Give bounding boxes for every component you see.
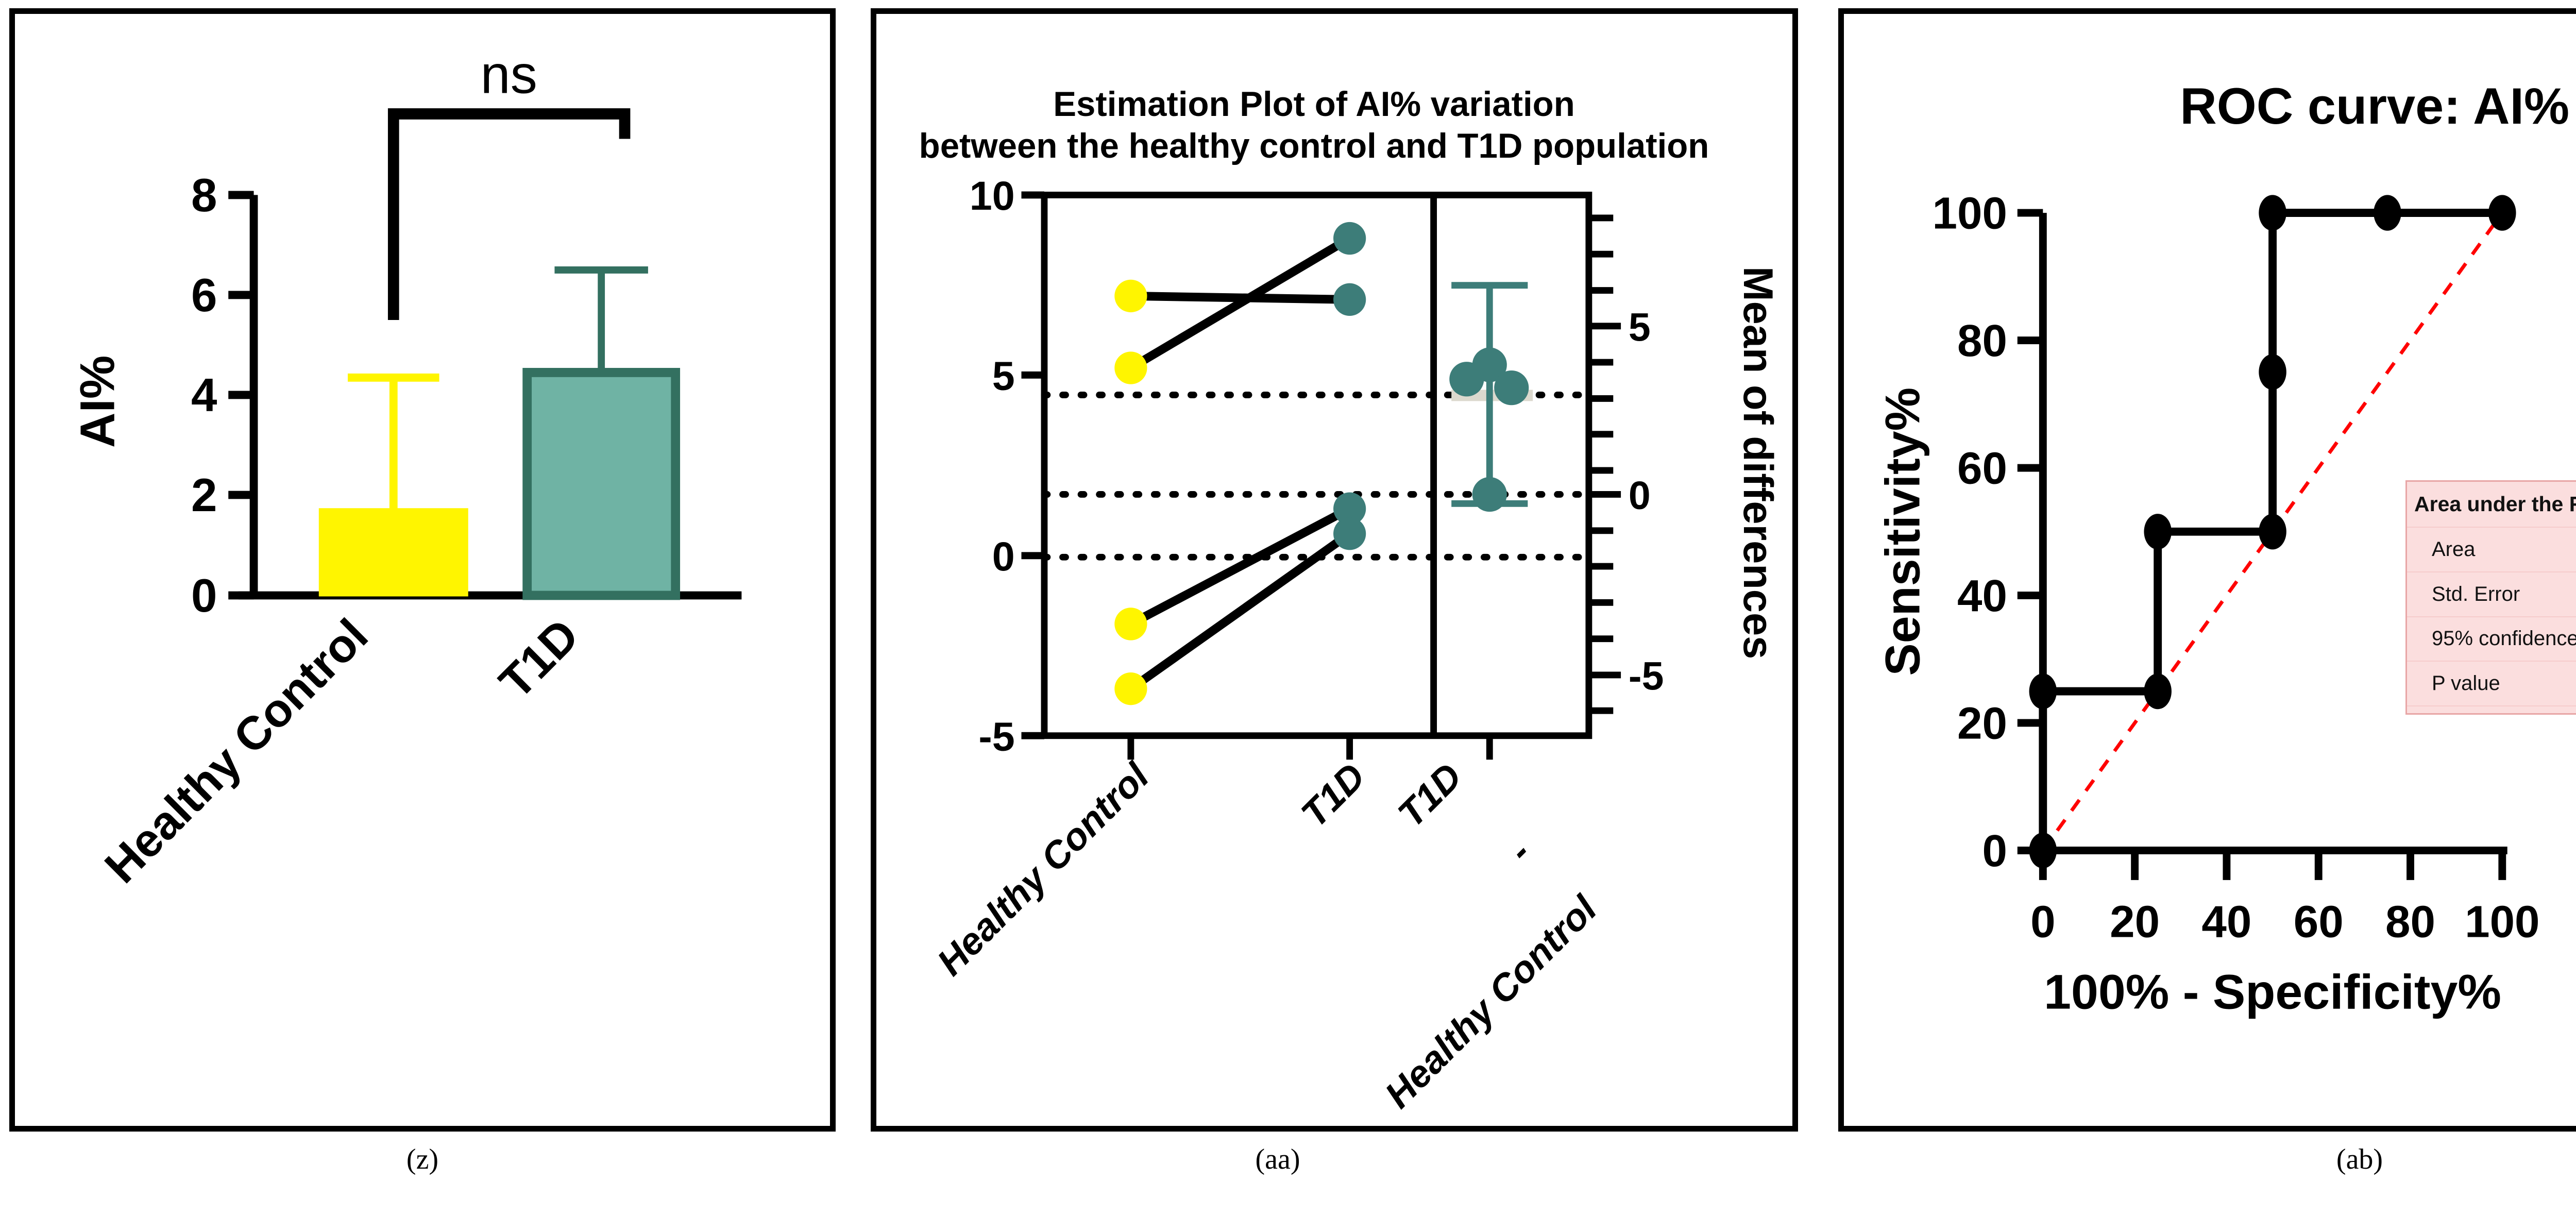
right-y-axis-title: Mean of differences [1735, 266, 1781, 659]
table-spacer-left [2407, 706, 2576, 713]
marker-diff-4 [1494, 370, 1529, 405]
significance-label: ns [480, 44, 537, 105]
y-tick-label-100: 100 [1933, 189, 2007, 239]
marker-t1d-2 [1333, 222, 1366, 255]
left-y-tick-labels: -5 0 5 10 [970, 173, 1015, 759]
plot-title: ROC curve: AI% [2180, 77, 2569, 134]
table-row-spacer [2407, 706, 2576, 713]
roc-point-50-100 [2259, 195, 2286, 230]
plot-frame [1044, 195, 1589, 735]
x-tick-label-40: 40 [2201, 897, 2251, 947]
y-tick-label-0: 0 [1982, 826, 2007, 876]
table-row-header: Area under the ROC curve [2407, 482, 2576, 527]
significance-bracket [394, 114, 625, 320]
right-y-axis-ticks [1589, 218, 1621, 711]
x-axis-ticks [2043, 850, 2502, 880]
marker-t1d-4 [1333, 517, 1366, 550]
left-y-axis-ticks [1022, 195, 1044, 735]
x-label-left-healthy-control: Healthy Control [929, 754, 1158, 984]
x-axis-title: 100% - Specificity% [2044, 965, 2501, 1019]
roc-point-25-50 [2144, 514, 2171, 549]
x-axis-tick-labels: 0 20 40 60 80 100 [2030, 897, 2539, 947]
x-tick-label-healthy-control: Healthy Control [95, 609, 378, 893]
x-tick-label-20: 20 [2110, 897, 2160, 947]
y-tick-label-2: 2 [191, 469, 217, 521]
y-tick-label-4: 4 [191, 369, 217, 421]
marker-hc-4 [1114, 672, 1147, 705]
right-y-tick-label-5: 5 [1629, 305, 1651, 349]
panel-caption-aa: (aa) [1175, 1143, 1381, 1176]
table-label-std-error: Std. Error [2407, 572, 2576, 617]
x-label-left-t1d: T1D [1293, 755, 1374, 835]
roc-point-50-75 [2259, 354, 2286, 390]
y-axis-title: AI% [70, 356, 125, 448]
roc-stats-table: Area under the ROC curve Area 0.6875 Std… [2405, 480, 2576, 715]
panel-caption-ab: (ab) [2257, 1143, 2463, 1176]
pair-connector-lines [1131, 239, 1350, 689]
left-y-tick-label-10: 10 [970, 173, 1015, 218]
y-tick-label-8: 8 [191, 170, 217, 222]
table-row: P value 0.3865 [2407, 661, 2576, 706]
left-y-tick-label-0: 0 [992, 533, 1015, 579]
estimation-plot-svg: Estimation Plot of AI% variation between… [876, 14, 1792, 1126]
table-header-label: Area under the ROC curve [2407, 482, 2576, 527]
plot-title-line2: between the healthy control and T1D popu… [919, 127, 1709, 165]
x-tick-label-100: 100 [2465, 897, 2539, 947]
left-y-tick-label--5: -5 [978, 713, 1014, 759]
x-tick-label-0: 0 [2030, 897, 2055, 947]
marker-hc-3 [1114, 608, 1147, 640]
reference-lines [1044, 395, 1589, 557]
right-y-tick-labels: 5 0 -5 [1629, 305, 1664, 698]
y-axis-title: Sensitivity% [1876, 387, 1930, 676]
x-axis-ticks [1131, 736, 1489, 760]
bar-healthy-control [320, 509, 467, 595]
table-label-confidence-interval: 95% confidence interval [2407, 617, 2576, 662]
marker-hc-2 [1114, 351, 1147, 384]
table-row: Std. Error 0.2031 [2407, 572, 2576, 617]
multi-panel-figure: 0 2 4 6 8 AI% [0, 0, 2576, 1214]
roc-point-0-25 [2029, 673, 2057, 709]
y-tick-label-80: 80 [1957, 316, 2007, 366]
bar-t1d [527, 373, 675, 596]
y-tick-label-6: 6 [191, 269, 217, 322]
x-tick-label-60: 60 [2294, 897, 2344, 947]
y-axis-tick-labels: 0 20 40 60 80 100 [1933, 189, 2007, 876]
roc-point-100-100 [2488, 195, 2516, 230]
panel-ab-roc-curve: ROC curve: AI% 0 20 40 60 80 100 S [1838, 8, 2576, 1132]
marker-t1d-1 [1333, 283, 1366, 316]
roc-point-75-100 [2374, 195, 2401, 230]
y-tick-label-60: 60 [1957, 444, 2007, 494]
table-label-p-value: P value [2407, 661, 2576, 706]
panel-aa-estimation-plot: Estimation Plot of AI% variation between… [871, 8, 1798, 1132]
error-bar-healthy-control [348, 378, 439, 509]
right-y-tick-label--5: -5 [1629, 654, 1664, 699]
table-row: 95% confidence interval 0.2894 to 1.000 [2407, 617, 2576, 662]
right-y-tick-label-0: 0 [1629, 474, 1651, 518]
error-bar-t1d [554, 270, 648, 373]
marker-hc-1 [1114, 280, 1147, 312]
x-label-right-dash: - [1500, 832, 1538, 870]
panel-z-bar-chart: 0 2 4 6 8 AI% [9, 8, 836, 1132]
y-axis-tick-labels: 0 2 4 6 8 [191, 170, 217, 622]
table-row: Area 0.6875 [2407, 527, 2576, 572]
markers-t1d [1333, 222, 1366, 550]
marker-diff-3 [1449, 362, 1484, 396]
y-tick-label-40: 40 [1957, 571, 2007, 621]
left-y-tick-label-5: 5 [992, 352, 1015, 398]
bar-chart-svg: 0 2 4 6 8 AI% [15, 14, 830, 1126]
roc-point-50-50 [2259, 514, 2286, 549]
roc-point-0-0 [2029, 833, 2057, 868]
table-label-area: Area [2407, 527, 2576, 572]
x-tick-label-t1d: T1D [489, 609, 588, 709]
roc-point-25-25 [2144, 673, 2171, 709]
y-tick-label-0: 0 [191, 570, 217, 622]
x-tick-label-80: 80 [2385, 897, 2435, 947]
x-label-right-t1d: T1D [1390, 755, 1470, 835]
y-tick-label-20: 20 [1957, 699, 2007, 749]
marker-diff-1 [1472, 477, 1507, 512]
panel-caption-z: (z) [319, 1143, 526, 1176]
plot-title-line1: Estimation Plot of AI% variation [1053, 85, 1575, 124]
x-label-right-healthy-control: Healthy Control [1377, 887, 1605, 1116]
